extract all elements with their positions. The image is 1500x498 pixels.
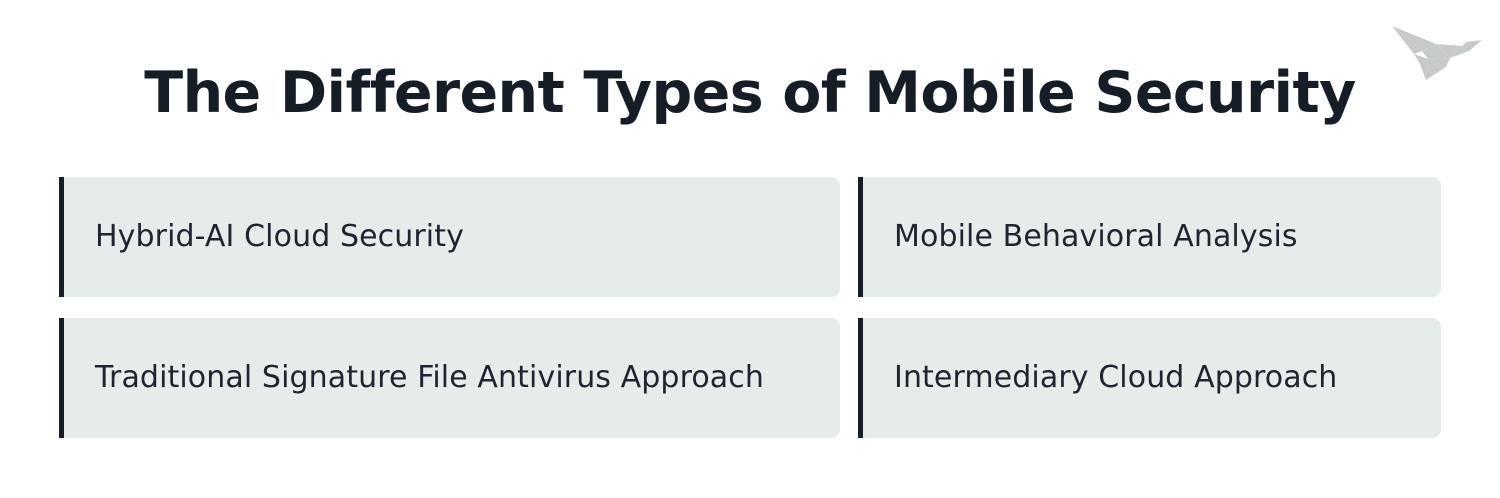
page-title: The Different Types of Mobile Security [0,62,1500,126]
card-body: Intermediary Cloud Approach [863,318,1441,438]
card-label: Mobile Behavioral Analysis [894,218,1298,256]
card-label: Traditional Signature File Antivirus App… [95,359,764,397]
infographic-page: The Different Types of Mobile Security H… [0,0,1500,498]
card-body: Mobile Behavioral Analysis [863,177,1441,297]
card-hybrid-ai-cloud-security[interactable]: Hybrid-AI Cloud Security [59,177,840,297]
card-body: Hybrid-AI Cloud Security [64,177,840,297]
security-types-grid: Hybrid-AI Cloud Security Mobile Behavior… [59,177,1441,438]
card-mobile-behavioral-analysis[interactable]: Mobile Behavioral Analysis [858,177,1441,297]
card-traditional-signature-file-antivirus-approach[interactable]: Traditional Signature File Antivirus App… [59,318,840,438]
card-intermediary-cloud-approach[interactable]: Intermediary Cloud Approach [858,318,1441,438]
card-label: Hybrid-AI Cloud Security [95,218,464,256]
card-body: Traditional Signature File Antivirus App… [64,318,840,438]
card-label: Intermediary Cloud Approach [894,359,1337,397]
